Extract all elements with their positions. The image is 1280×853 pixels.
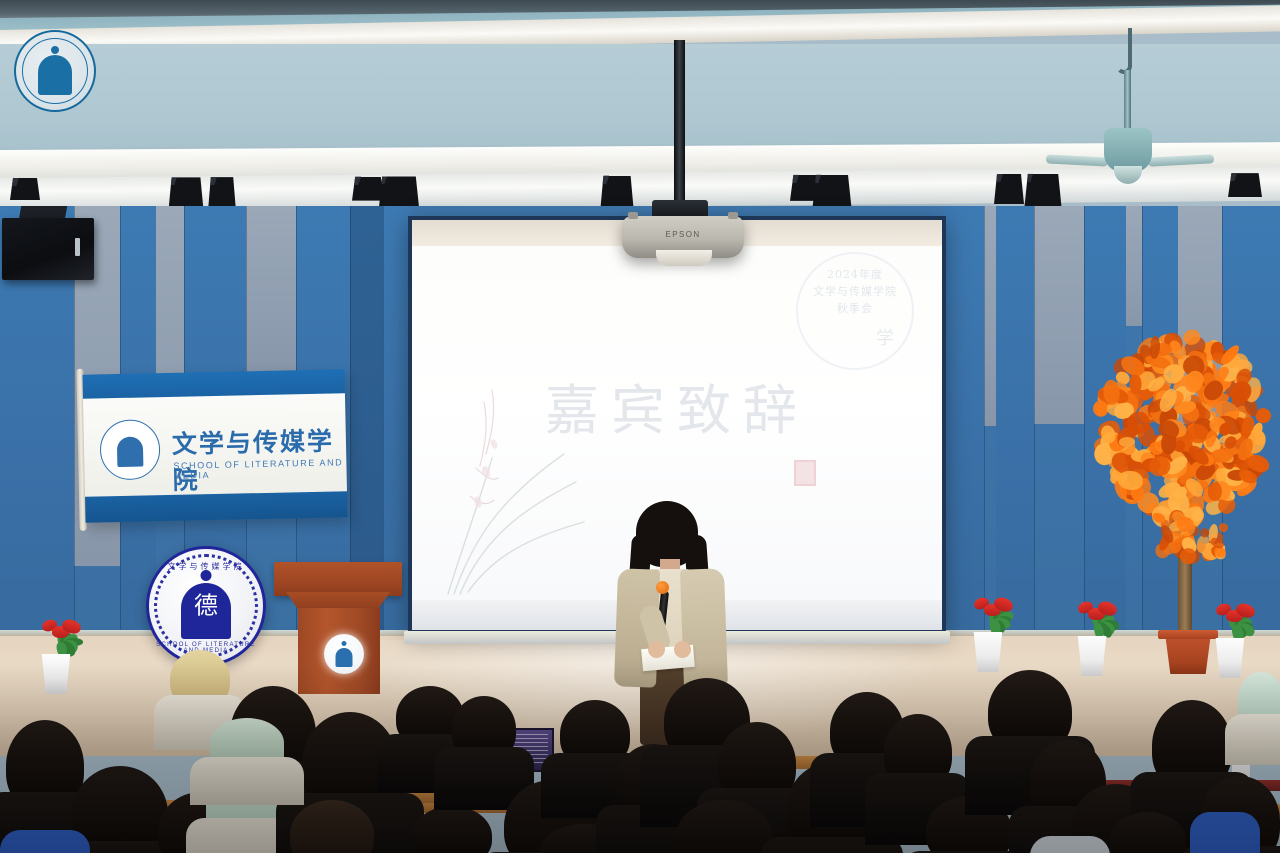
stage-light-icon [352, 177, 384, 201]
speaker-hair [636, 501, 698, 567]
wall-crest-center-char: 德 [194, 585, 218, 620]
tree-leaf [1207, 481, 1222, 501]
speaker-hand-left [648, 641, 665, 658]
upper-wall-seal-icon [14, 30, 96, 112]
tree-crown [1092, 332, 1272, 538]
slide-meta-year: 2024年度 [802, 266, 908, 283]
projector-rod [674, 40, 685, 212]
podium-top [274, 562, 402, 596]
slide-meta-event: 秋季会 [802, 300, 908, 317]
tree-pot-rim [1158, 630, 1218, 639]
wall-crest-emblem: 文学与传媒学院 德 SCHOOL OF LITERATURE AND MEDIA [146, 546, 266, 666]
stage-light-icon [10, 178, 40, 200]
auditorium-photo: 2024年度 文学与传媒学院 秋季会 学 嘉宾致辞 EPSON 文学与传媒学院 … [0, 0, 1280, 853]
stage-light-icon [994, 174, 1024, 204]
fan-hook-icon [1116, 28, 1132, 74]
slide-meta-school: 文学与传媒学院 [802, 283, 908, 300]
speaker-hand-right [674, 641, 691, 658]
slide-signature: 学 [876, 324, 894, 350]
stage-light-icon [1228, 173, 1262, 197]
projector-brand-label: EPSON [622, 230, 744, 239]
slide-seal-stamp [794, 460, 816, 486]
wall-speaker-icon [2, 218, 94, 280]
projector-body: EPSON [622, 216, 744, 258]
slide-title: 嘉宾致辞 [412, 366, 942, 445]
audience-shadow-overlay [0, 663, 1280, 853]
banner-en-title: SCHOOL OF LITERATURE AND MEDIA [173, 457, 346, 481]
microphone-tip-icon [656, 581, 669, 594]
slide-meta-block: 2024年度 文学与传媒学院 秋季会 [802, 266, 908, 317]
school-banner: 文学与传媒学院 SCHOOL OF LITERATURE AND MEDIA [82, 369, 347, 522]
projector-lens-icon [656, 250, 712, 266]
